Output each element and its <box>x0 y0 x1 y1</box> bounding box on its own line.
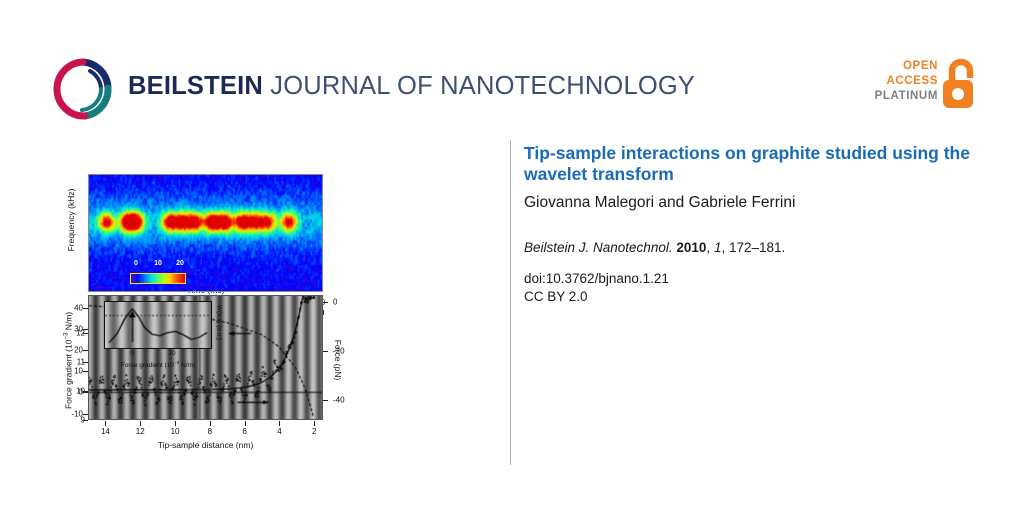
open-access-badge: OPEN ACCESS PLATINUM <box>872 58 980 112</box>
colorbar-gradient <box>130 273 186 284</box>
force-plot-xtick <box>279 421 280 426</box>
force-plot-yticks-right <box>323 295 328 420</box>
force-plot-xtick <box>140 421 141 426</box>
article-authors: Giovanna Malegori and Gabriele Ferrini <box>524 194 994 212</box>
journal-title: BEILSTEIN JOURNAL OF NANOTECHNOLOGY <box>128 72 695 101</box>
open-lock-icon <box>940 58 980 110</box>
force-plot-xtick <box>245 421 246 426</box>
force-plot-xtick-label: 4 <box>277 427 281 436</box>
force-plot-ytick-label-left: 30 <box>74 324 83 333</box>
force-plot-xtick-label: 8 <box>208 427 212 436</box>
colorbar-tick-label: 20 <box>176 260 184 267</box>
force-plot-xticks <box>88 421 323 426</box>
force-plot-xtick-label: 10 <box>171 427 180 436</box>
force-plot-xtick <box>105 421 106 426</box>
citation-year: 2010 <box>676 240 706 255</box>
spectrogram-colorbar: 01020 <box>130 260 186 286</box>
open-access-text: OPEN ACCESS PLATINUM <box>875 59 938 104</box>
force-plot-xtick <box>210 421 211 426</box>
article-citation: Beilstein J. Nanotechnol. 2010, 1, 172–1… <box>524 240 994 255</box>
citation-pages: 172–181. <box>729 240 785 255</box>
force-plot-xtick-label: 6 <box>242 427 246 436</box>
force-plot-xtick <box>175 421 176 426</box>
article-title: Tip-sample interactions on graphite stud… <box>524 143 994 185</box>
force-plot-xtick-label: 14 <box>101 427 110 436</box>
open-access-line3: PLATINUM <box>875 89 938 104</box>
spectrogram-canvas <box>89 175 322 291</box>
force-inset-ylabel: W(a,τ) (a.u.) <box>216 296 223 350</box>
force-plot-ytick-label-left: 40 <box>74 303 83 312</box>
force-plot-ytick-label-left: 10 <box>74 367 83 376</box>
force-plot-panel: 020 Force gradient (10−3 N/m) W(a,τ) (a.… <box>88 295 323 420</box>
force-plot-ytick-right <box>323 400 328 401</box>
force-inset-xtick-label: 20 <box>168 350 175 357</box>
article-doi: doi:10.3762/bjnano.1.21 <box>524 271 994 286</box>
column-divider <box>510 140 511 465</box>
force-inset-xlabel: Force gradient (10−3 N/m) <box>94 360 222 369</box>
force-inset-frame <box>104 301 212 349</box>
force-inset-xtick-label: 0 <box>130 350 134 357</box>
journal-title-bold: BEILSTEIN <box>128 72 263 100</box>
colorbar-tick-label: 10 <box>154 260 162 267</box>
force-plot-ytick-label-right: 0 <box>333 298 337 307</box>
article-info: Tip-sample interactions on graphite stud… <box>524 143 994 304</box>
page-header: BEILSTEIN JOURNAL OF NANOTECHNOLOGY OPEN… <box>0 0 1024 130</box>
force-plot-inset: 020 Force gradient (10−3 N/m) W(a,τ) (a.… <box>104 301 212 359</box>
force-plot-xtick-label: 2 <box>312 427 316 436</box>
force-inset-canvas <box>105 302 211 348</box>
force-plot-xtick-labels: 1412108642 <box>88 427 323 438</box>
force-plot-xtick <box>314 421 315 426</box>
force-inset-xtick-labels: 020 <box>104 350 212 359</box>
colorbar-tick-labels: 01020 <box>130 260 186 271</box>
force-plot-xtick-label: 12 <box>136 427 145 436</box>
article-figure: Time (ms) 50403020100 Frequency (kHz) 12… <box>55 140 355 465</box>
force-plot-ytick-right <box>323 351 328 352</box>
colorbar-tick-label: 0 <box>134 260 138 267</box>
force-plot-ytick-right <box>323 302 328 303</box>
open-access-line2: ACCESS <box>875 74 938 89</box>
force-plot-ytick-label-left: -10 <box>71 409 83 418</box>
force-plot-ytick-label-right: -20 <box>333 347 345 356</box>
force-plot-ytick-label-left: 20 <box>74 346 83 355</box>
spectrogram-ylabel: Frequency (kHz) <box>66 160 76 280</box>
spectrogram-heatmap <box>88 174 323 292</box>
beilstein-ring-logo-icon <box>52 58 114 120</box>
open-access-line1: OPEN <box>875 59 938 74</box>
journal-title-light: JOURNAL OF NANOTECHNOLOGY <box>263 72 695 100</box>
citation-journal: Beilstein J. Nanotechnol. <box>524 240 673 255</box>
force-plot-ytick-labels-right: 0-20-40 <box>333 295 357 420</box>
article-license: CC BY 2.0 <box>524 289 994 304</box>
force-plot-xlabel: Tip-sample distance (nm) <box>88 440 323 450</box>
force-plot-ytick-labels-left: 403020100-10 <box>59 295 83 420</box>
force-plot-ytick-label-right: -40 <box>333 396 345 405</box>
spectrogram-panel: 01020 <box>88 174 323 292</box>
